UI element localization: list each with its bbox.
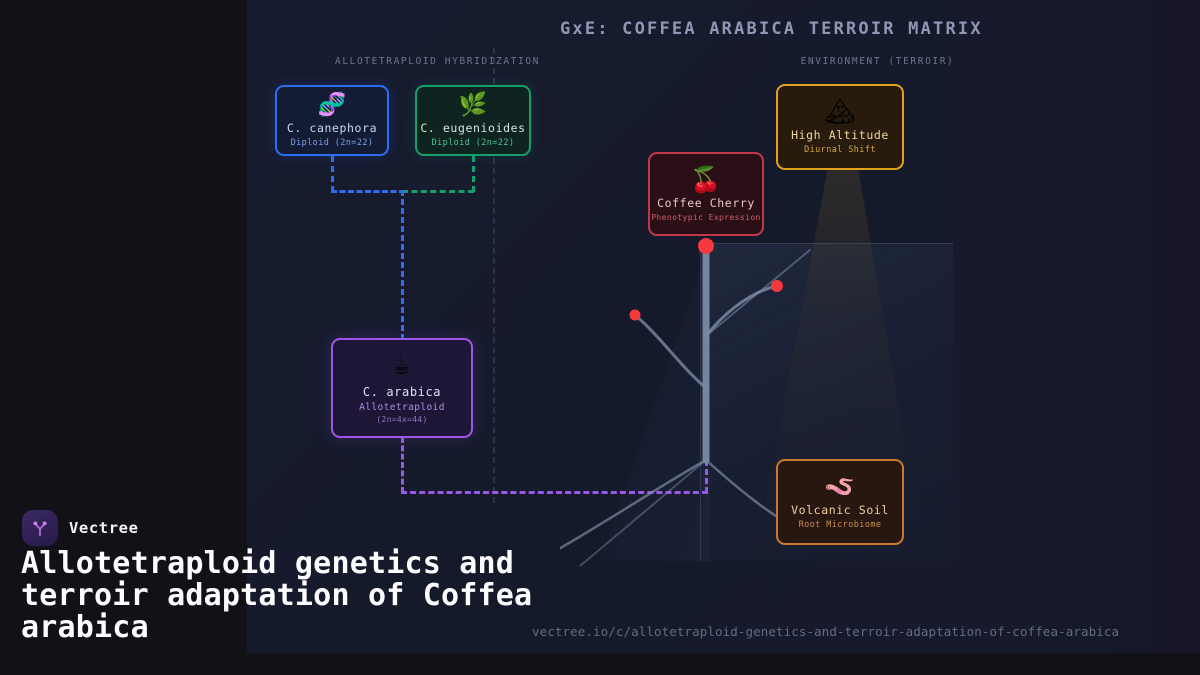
section-label-genetics: ALLOTETRAPLOID HYBRIDIZATION [280, 56, 595, 67]
node-subtitle: Diurnal Shift [804, 145, 876, 155]
coffee-cup-icon: ☕ [394, 352, 410, 379]
background-bottom-strip [0, 653, 1200, 675]
node-title: C. eugenioides [420, 121, 525, 135]
node-subtitle: Root Microbiome [799, 520, 882, 530]
vectree-logo [22, 510, 58, 546]
brand-row[interactable]: Vectree [22, 510, 139, 546]
connector-eugenioides-across [402, 190, 474, 193]
node-subtitle: Allotetraploid [359, 402, 445, 413]
node-card-coffee-cherry[interactable]: 🍒 Coffee Cherry Phenotypic Expression [648, 152, 764, 236]
connector-arabica-down [401, 437, 404, 493]
node-card-arabica[interactable]: ☕ C. arabica Allotetraploid (2n=4x=44) [331, 338, 473, 438]
brand-name: Vectree [69, 519, 139, 537]
node-title: Volcanic Soil [791, 503, 889, 517]
node-title: High Altitude [791, 128, 889, 142]
node-detail: (2n=4x=44) [376, 415, 427, 424]
node-title: C. arabica [363, 385, 441, 399]
node-subtitle: Phenotypic Expression [651, 213, 761, 222]
section-label-environment: ENVIRONMENT (TERROIR) [690, 56, 1065, 67]
connector-eugenioides-down [472, 156, 475, 192]
connector-canephora-down [331, 156, 334, 192]
node-card-high-altitude[interactable]: 🏔 High Altitude Diurnal Shift [776, 84, 904, 170]
matrix-title: GxE: COFFEA ARABICA TERROIR MATRIX [560, 19, 960, 39]
cherries-icon: 🍒 [690, 167, 721, 192]
page-url: vectree.io/c/allotetraploid-genetics-and… [532, 624, 1119, 639]
node-subtitle: Diploid (2n=22) [432, 138, 515, 148]
node-title: C. canephora [287, 121, 377, 135]
mountain-icon: 🏔 [824, 99, 856, 124]
screenshot-stage: GxE: COFFEA ARABICA TERROIR MATRIX ALLOT… [0, 0, 1200, 675]
herb-icon: 🌿 [459, 94, 488, 117]
worm-icon: 🪱 [824, 474, 855, 499]
node-subtitle: Diploid (2n=22) [291, 138, 374, 148]
background-right-fade [953, 0, 1200, 675]
node-card-canephora[interactable]: 🧬 C. canephora Diploid (2n=22) [275, 85, 389, 156]
dna-icon: 🧬 [318, 94, 347, 117]
node-title: Coffee Cherry [657, 196, 755, 210]
vectree-tree-logo-icon [29, 517, 51, 539]
node-card-eugenioides[interactable]: 🌿 C. eugenioides Diploid (2n=22) [415, 85, 531, 156]
connector-canephora-across [331, 190, 405, 193]
page-headline: Allotetraploid genetics and terroir adap… [21, 548, 581, 644]
connector-hybrid-to-arabica [401, 190, 404, 340]
node-card-volcanic-soil[interactable]: 🪱 Volcanic Soil Root Microbiome [776, 459, 904, 545]
